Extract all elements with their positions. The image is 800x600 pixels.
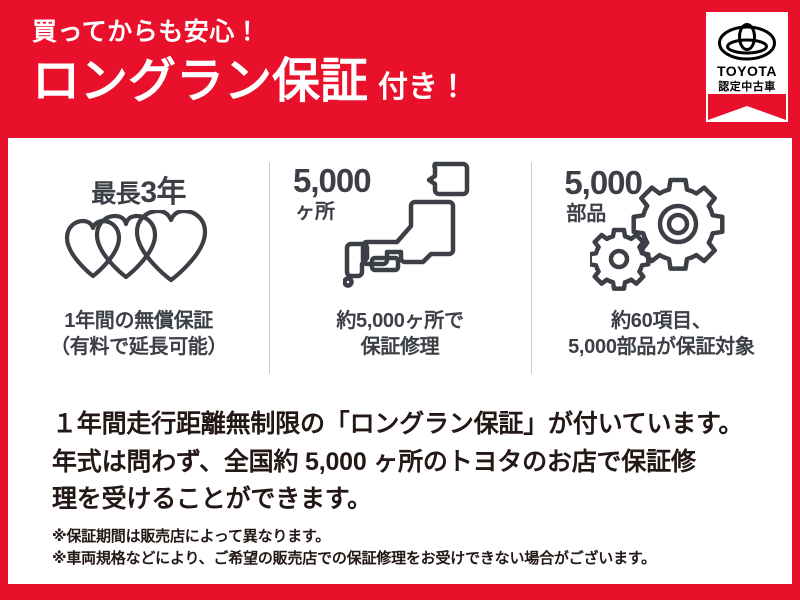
feature-2-caption: 約5,000ヶ所で 保証修理 [336,308,463,361]
feature-1-caption-line-2: （有料で延長可能） [50,334,227,360]
footnote-line-2: ※車両規格などにより、ご希望の販売店での保証修理をお受けできない場合がございます… [52,548,772,570]
toyota-certified-badge: TOYOTA 認定中古車 [706,12,788,122]
badge-subtitle: 認定中古車 [708,82,786,93]
feature-visual-map: 5,000 ヶ所 [275,156,525,304]
feature-3-caption-line-2: 5,000部品が保証対象 [568,334,754,360]
feature-1-caption: 1年間の無償保証 （有料で延長可能） [50,308,227,361]
body-copy-line-1: １年間走行距離無制限の「ロングラン保証」が付いています。 [52,406,762,444]
badge-chevron-shape [708,94,786,120]
feature-1-headline: 最長3年 [91,178,186,208]
three-hearts-icon [63,210,215,284]
feature-3-caption-line-1: 約60項目、 [568,308,754,334]
feature-2-unit: ヶ所 [295,202,335,222]
content-panel: 最長3年 1年間の無償保証 （有料で延長可能） [8,138,792,584]
badge-wordmark: TOYOTA [708,64,786,78]
feature-covered-parts: 5,000 部品 [531,156,792,388]
longrun-warranty-banner: 買ってからも安心！ ロングラン保証 付き！ TOYOTA 認定中古車 [0,0,800,600]
feature-1-headline-big: 3年 [140,176,186,209]
body-copy-line-3: 理を受けることができます。 [52,481,762,519]
feature-visual-gears: 5,000 部品 [536,156,786,304]
footnotes: ※保証期間は販売店によって異なります。 ※車両規格などにより、ご希望の販売店での… [52,526,772,570]
feature-2-caption-line-2: 保証修理 [336,334,463,360]
feature-columns: 最長3年 1年間の無償保証 （有料で延長可能） [8,156,792,388]
header-kicker: 買ってからも安心！ [32,20,692,45]
body-copy: １年間走行距離無制限の「ロングラン保証」が付いています。 年式は問わず、全国約 … [52,406,762,519]
feature-warranty-period: 最長3年 1年間の無償保証 （有料で延長可能） [8,156,269,388]
japan-map-icon [343,158,473,292]
headline-suffix-text: 付き！ [378,73,468,103]
headline-main-text: ロングラン保証 [32,58,368,106]
banner-header: 買ってからも安心！ ロングラン保証 付き！ TOYOTA 認定中古車 [0,0,800,138]
toyota-ellipse-logo-icon [718,23,776,63]
feature-visual-hearts: 最長3年 [14,156,264,304]
feature-1-caption-line-1: 1年間の無償保証 [50,308,227,334]
body-copy-line-2: 年式は問わず、全国約 5,000 ヶ所のトヨタのお店で保証修 [52,444,762,482]
feature-service-locations: 5,000 ヶ所 [269,156,530,388]
feature-1-headline-small: 最長 [91,180,140,208]
footnote-line-1: ※保証期間は販売店によって異なります。 [52,526,772,548]
header-text-block: 買ってからも安心！ ロングラン保証 付き！ [32,20,692,106]
badge-inner: TOYOTA 認定中古車 [708,14,786,120]
two-gears-icon [590,176,730,294]
header-headline: ロングラン保証 付き！ [32,58,692,106]
feature-2-caption-line-1: 約5,000ヶ所で [336,308,463,334]
feature-3-caption: 約60項目、 5,000部品が保証対象 [568,308,754,361]
